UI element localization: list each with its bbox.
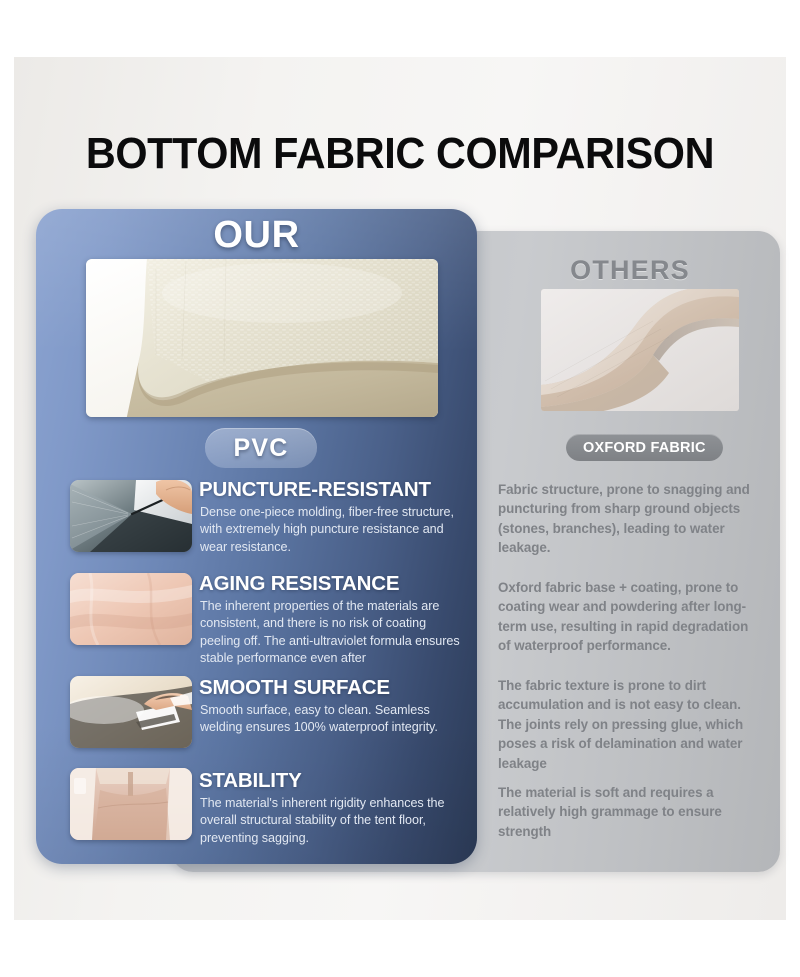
feature-thumbnail-stability xyxy=(70,768,192,840)
feature-body-1: Dense one-piece molding, fiber-free stru… xyxy=(200,504,466,556)
tent-floor-illustration xyxy=(70,768,192,840)
our-hero-image xyxy=(86,259,438,417)
feature-thumbnail-smooth xyxy=(70,676,192,748)
infographic-root: BOTTOM FABRIC COMPARISON OTHERS xyxy=(0,0,800,977)
pvc-fabric-illustration xyxy=(86,259,438,417)
feature-title-3: SMOOTH SURFACE xyxy=(199,676,390,700)
others-paragraph-2: Oxford fabric base + coating, prone to c… xyxy=(498,578,764,656)
feature-body-2: The inherent properties of the materials… xyxy=(200,598,466,668)
pvc-badge-label: PVC xyxy=(233,434,288,463)
others-paragraph-4: The material is soft and requires a rela… xyxy=(498,783,764,841)
others-hero-image xyxy=(541,289,739,411)
wiping-cloth-illustration xyxy=(70,676,192,748)
our-heading: OUR xyxy=(36,214,477,257)
puncture-test-illustration xyxy=(70,480,192,552)
oxford-fabric-badge-label: OXFORD FABRIC xyxy=(583,440,706,456)
oxford-fabric-badge: OXFORD FABRIC xyxy=(566,434,723,461)
feature-title-2: AGING RESISTANCE xyxy=(199,572,399,596)
feature-body-3: Smooth surface, easy to clean. Seamless … xyxy=(200,702,466,737)
pvc-badge: PVC xyxy=(205,428,317,468)
feature-title-1: PUNCTURE-RESISTANT xyxy=(199,478,431,502)
page-title: BOTTOM FABRIC COMPARISON xyxy=(24,128,776,180)
others-paragraph-3: The fabric texture is prone to dirt accu… xyxy=(498,676,764,773)
others-paragraph-1: Fabric structure, prone to snagging and … xyxy=(498,480,764,558)
fabric-folds-illustration xyxy=(70,573,192,645)
others-heading: OTHERS xyxy=(480,255,780,286)
feature-thumbnail-aging xyxy=(70,573,192,645)
oxford-fabric-illustration xyxy=(541,289,739,411)
feature-thumbnail-puncture xyxy=(70,480,192,552)
feature-body-4: The material's inherent rigidity enhance… xyxy=(200,795,466,847)
feature-title-4: STABILITY xyxy=(199,769,302,793)
